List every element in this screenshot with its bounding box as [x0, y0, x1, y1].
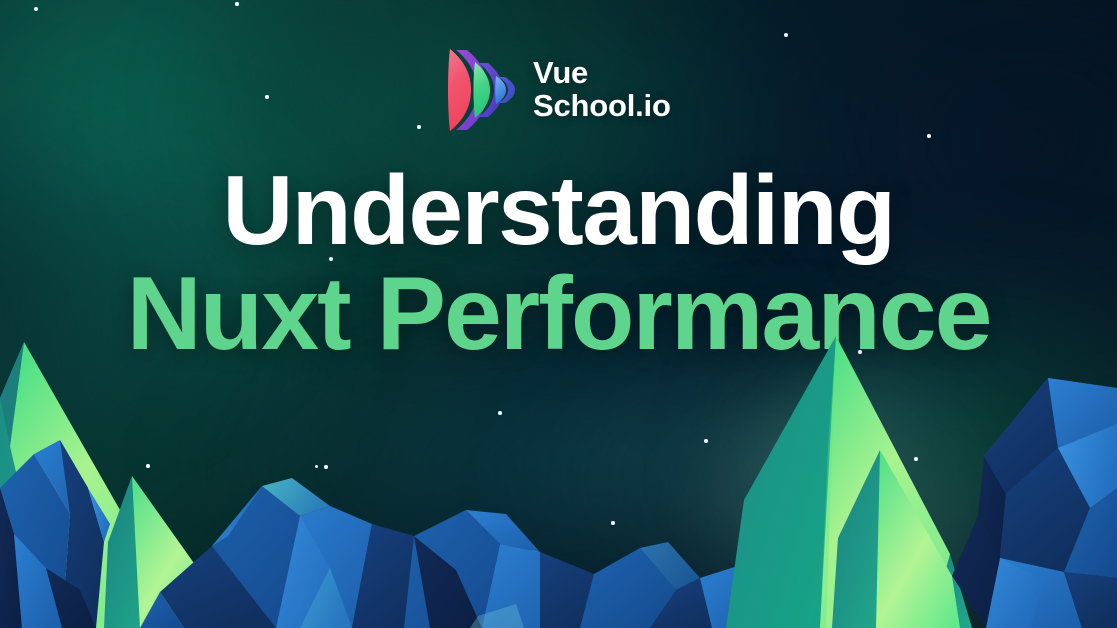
star [34, 7, 38, 11]
wordmark-line-2: School.io [533, 90, 671, 123]
star [235, 2, 238, 5]
vueschool-logo[interactable]: Vue School.io [447, 48, 671, 132]
lowpoly-mountain-range [0, 328, 1117, 628]
title-line-1: Understanding [0, 162, 1117, 258]
star [927, 134, 931, 138]
star [417, 125, 420, 128]
vueschool-wordmark: Vue School.io [533, 57, 671, 123]
star [265, 95, 269, 99]
wordmark-line-1: Vue [533, 57, 671, 90]
vueschool-chevron-logo-icon [447, 48, 519, 132]
hero-banner: Vue School.io Understanding Nuxt Perform… [0, 0, 1117, 628]
